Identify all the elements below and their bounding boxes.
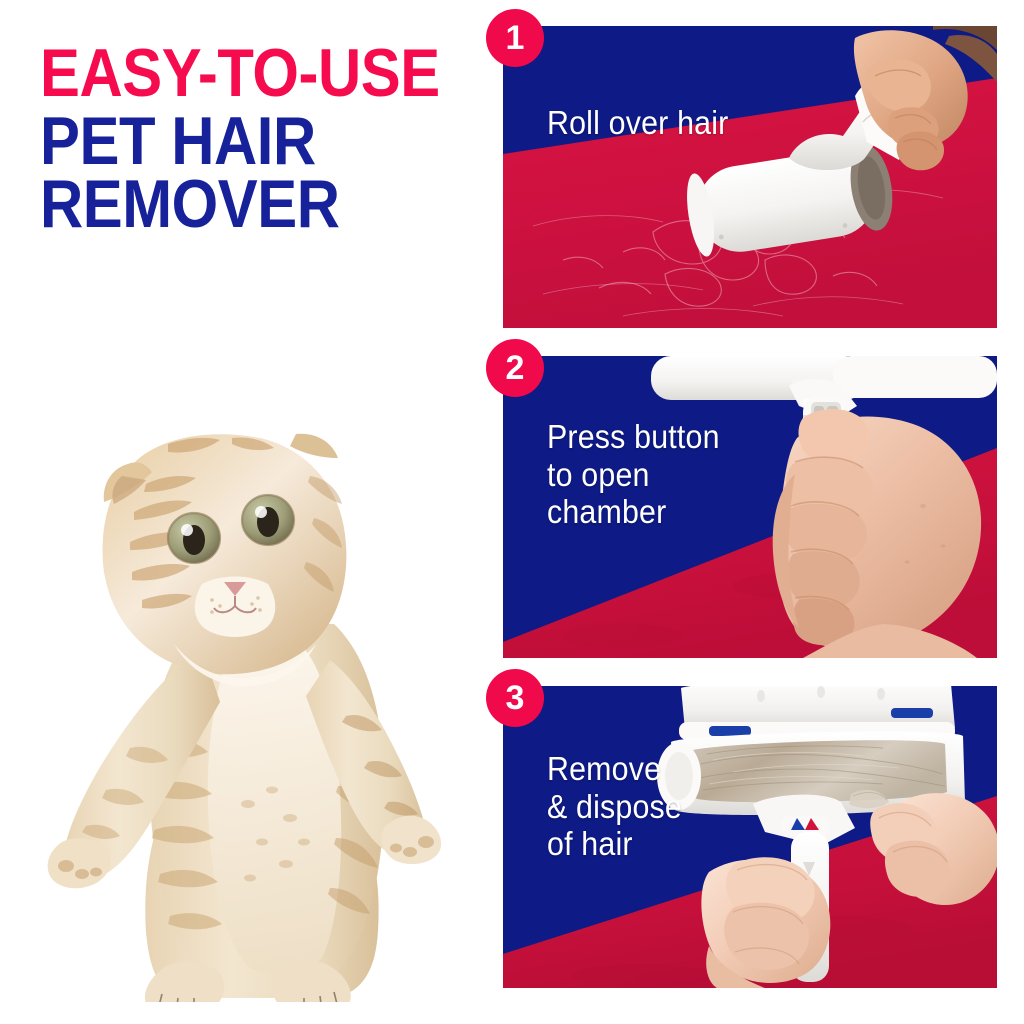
step-badge-3: 3 [486,669,544,727]
step-1-illustration [503,26,997,328]
step-panel-3: 3 Remove & dispose of hair [503,686,997,988]
cat-illustration [34,372,454,1002]
infographic-page: EASY-TO-USE PET HAIR REMOVER [0,0,1024,1024]
step-1-photo [503,26,997,328]
step-caption-2: Press button to open chamber [547,418,720,531]
step-panel-1: 1 Roll over hair [503,26,997,328]
step-badge-2: 2 [486,339,544,397]
headline-block: EASY-TO-USE PET HAIR REMOVER [40,44,480,233]
step-panel-2: 2 Press button to open chamber [503,356,997,658]
headline-line-1: EASY-TO-USE [40,44,427,102]
headline-line-2: PET HAIR [40,112,427,170]
headline-line-3: REMOVER [40,175,427,233]
step-badge-1: 1 [486,9,544,67]
cat-photo [34,372,454,1002]
step-caption-1: Roll over hair [547,104,728,142]
step-caption-3: Remove & dispose of hair [547,750,682,863]
